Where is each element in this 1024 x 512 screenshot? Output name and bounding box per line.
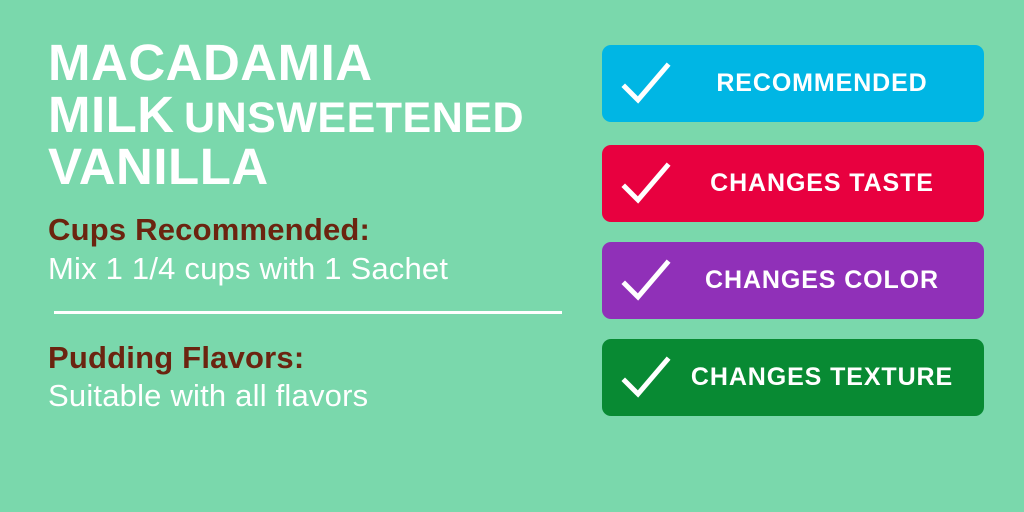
attribute-badge-list: RECOMMENDED CHANGES TASTE CHANGES COLOR (602, 45, 984, 416)
check-icon (618, 354, 674, 402)
title-word-unsweetened: UNSWEETENED (184, 94, 524, 142)
pudding-flavors-block: Pudding Flavors: Suitable with all flavo… (48, 340, 568, 415)
badge-label: CHANGES COLOR (674, 266, 984, 295)
badge-changes-texture: CHANGES TEXTURE (602, 339, 984, 416)
title-line-1: MACADAMIA (48, 38, 568, 88)
check-icon (618, 160, 674, 208)
check-icon (618, 60, 674, 108)
badge-changes-taste: CHANGES TASTE (602, 145, 984, 222)
badge-recommended: RECOMMENDED (602, 45, 984, 122)
pudding-flavors-heading: Pudding Flavors: (48, 340, 568, 376)
check-icon (618, 257, 674, 305)
title-word-milk: MILK (48, 86, 175, 143)
title-line-3: VANILLA (48, 142, 568, 192)
badge-changes-color: CHANGES COLOR (602, 242, 984, 319)
cups-recommended-block: Cups Recommended: Mix 1 1/4 cups with 1 … (48, 212, 568, 287)
pudding-flavors-value: Suitable with all flavors (48, 377, 568, 414)
badge-label: RECOMMENDED (674, 69, 984, 98)
badge-label: CHANGES TASTE (674, 169, 984, 198)
section-divider (54, 311, 562, 314)
title-line-2: MILK UNSWEETENED (48, 90, 568, 140)
product-details-column: MACADAMIA MILK UNSWEETENED VANILLA Cups … (48, 38, 568, 415)
product-info-card: MACADAMIA MILK UNSWEETENED VANILLA Cups … (0, 0, 1024, 512)
page-title: MACADAMIA MILK UNSWEETENED VANILLA (48, 38, 568, 192)
badge-label: CHANGES TEXTURE (674, 363, 984, 392)
cups-recommended-heading: Cups Recommended: (48, 212, 568, 248)
cups-recommended-value: Mix 1 1/4 cups with 1 Sachet (48, 250, 568, 287)
